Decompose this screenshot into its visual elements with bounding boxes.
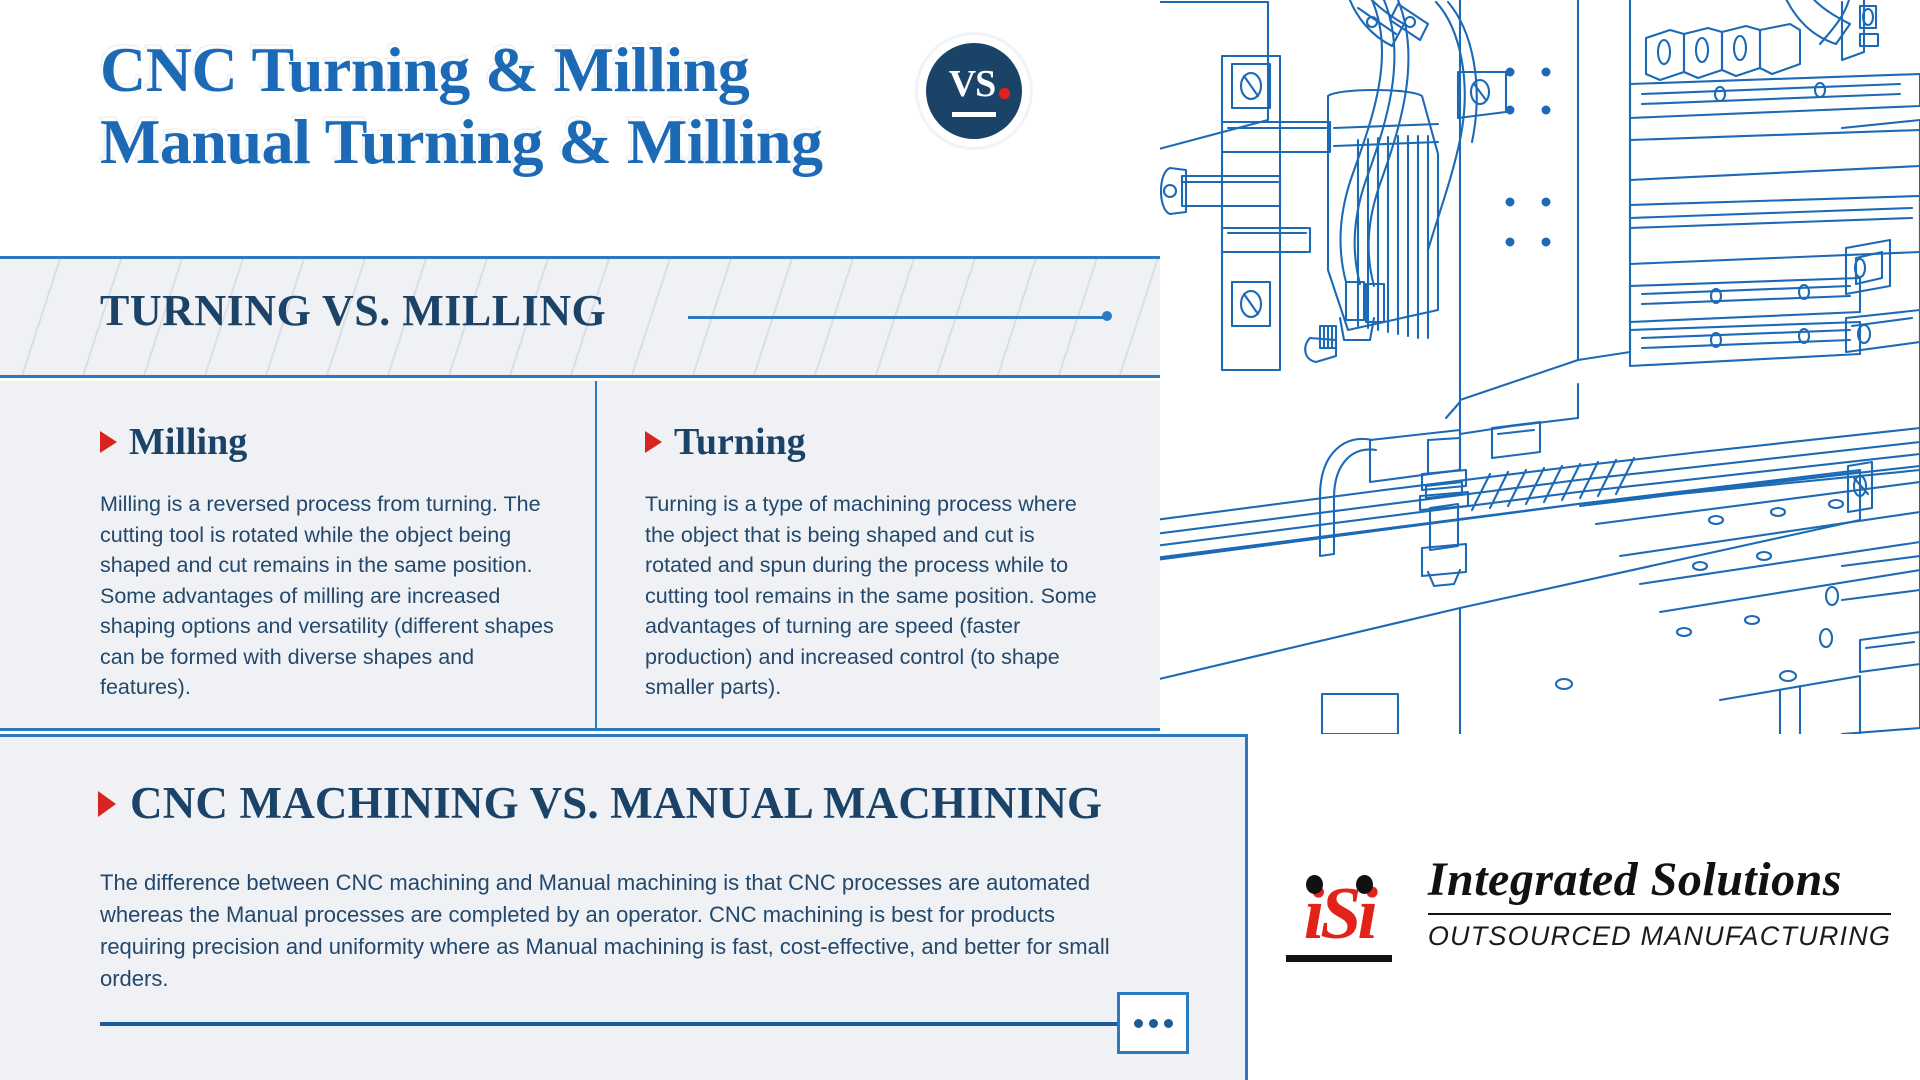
bottom-body: The difference between CNC machining and… (100, 867, 1140, 995)
vs-badge-circle: VS (926, 43, 1022, 139)
more-dot-icon (1134, 1019, 1143, 1028)
compare-column-turning: Turning Turning is a type of machining p… (595, 381, 1160, 728)
vs-badge: VS (915, 32, 1033, 150)
bottom-panel: CNC MACHINING VS. MANUAL MACHINING The d… (0, 734, 1248, 1080)
vs-badge-label: VS (949, 65, 1000, 103)
bottom-heading-row: CNC MACHINING VS. MANUAL MACHINING (98, 781, 1102, 826)
infographic-page: CNC Turning & Milling Manual Turning & M… (0, 0, 1920, 1080)
milling-body: Milling is a reversed process from turni… (100, 489, 555, 703)
title-block: CNC Turning & Milling Manual Turning & M… (0, 0, 1160, 256)
company-logo: iSi Integrated Solutions OUTSOURCED MANU… (1251, 737, 1920, 1080)
milling-heading-row: Milling (100, 423, 555, 461)
logo-tagline: OUTSOURCED MANUFACTURING (1428, 921, 1891, 952)
logo-company-name: Integrated Solutions (1428, 855, 1891, 905)
section-heading: TURNING VS. MILLING (100, 285, 606, 336)
turning-body: Turning is a type of machining process w… (645, 489, 1100, 703)
logo-underline-bar (1286, 955, 1392, 962)
section-header-band: TURNING VS. MILLING (0, 256, 1160, 378)
more-dot-icon (1149, 1019, 1158, 1028)
compare-column-milling: Milling Milling is a reversed process fr… (0, 381, 595, 728)
cnc-machine-line-art-svg (1160, 0, 1920, 734)
triangle-bullet-icon (100, 431, 117, 453)
triangle-bullet-icon (98, 791, 116, 817)
turning-heading-row: Turning (645, 423, 1100, 461)
more-button[interactable] (1117, 992, 1189, 1054)
logo-row: iSi Integrated Solutions OUTSOURCED MANU… (1280, 855, 1891, 961)
logo-wordmark: Integrated Solutions OUTSOURCED MANUFACT… (1428, 855, 1891, 961)
more-dot-icon (1164, 1019, 1173, 1028)
triangle-bullet-icon (645, 431, 662, 453)
cnc-machine-illustration (1160, 0, 1920, 734)
bottom-heading: CNC MACHINING VS. MANUAL MACHINING (130, 781, 1102, 826)
section-rule (688, 316, 1108, 319)
milling-heading: Milling (129, 423, 247, 461)
turning-heading: Turning (674, 423, 806, 461)
compare-panel: Milling Milling is a reversed process fr… (0, 381, 1160, 731)
logo-divider (1428, 913, 1891, 915)
section-rule-dot-icon (1102, 311, 1112, 321)
vs-badge-underline (952, 112, 996, 117)
bottom-rule (100, 1022, 1135, 1026)
logo-mark-text: iSi (1280, 879, 1398, 949)
red-dot-icon (999, 88, 1010, 99)
logo-mark-isi: iSi (1280, 879, 1398, 961)
